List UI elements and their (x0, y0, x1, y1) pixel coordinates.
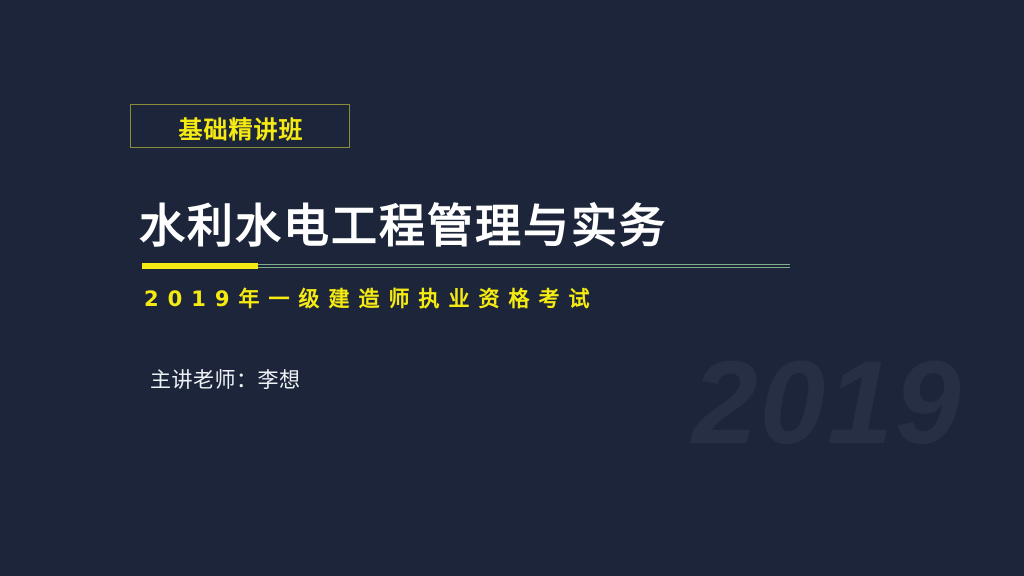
divider-accent-bar (142, 263, 258, 269)
presenter-label: 主讲老师：李想 (150, 364, 301, 394)
page-title: 水利水电工程管理与实务 (139, 198, 667, 256)
exam-subtitle: 2019年一级建造师执业资格考试 (144, 283, 598, 313)
course-type-badge-label: 基础精讲班 (131, 105, 351, 149)
title-divider (142, 263, 790, 269)
year-watermark: 2019 (692, 344, 963, 462)
course-cover-slide: 2019 基础精讲班 水利水电工程管理与实务 2019年一级建造师执业资格考试 … (0, 0, 1024, 576)
course-type-badge: 基础精讲班 (130, 104, 350, 148)
